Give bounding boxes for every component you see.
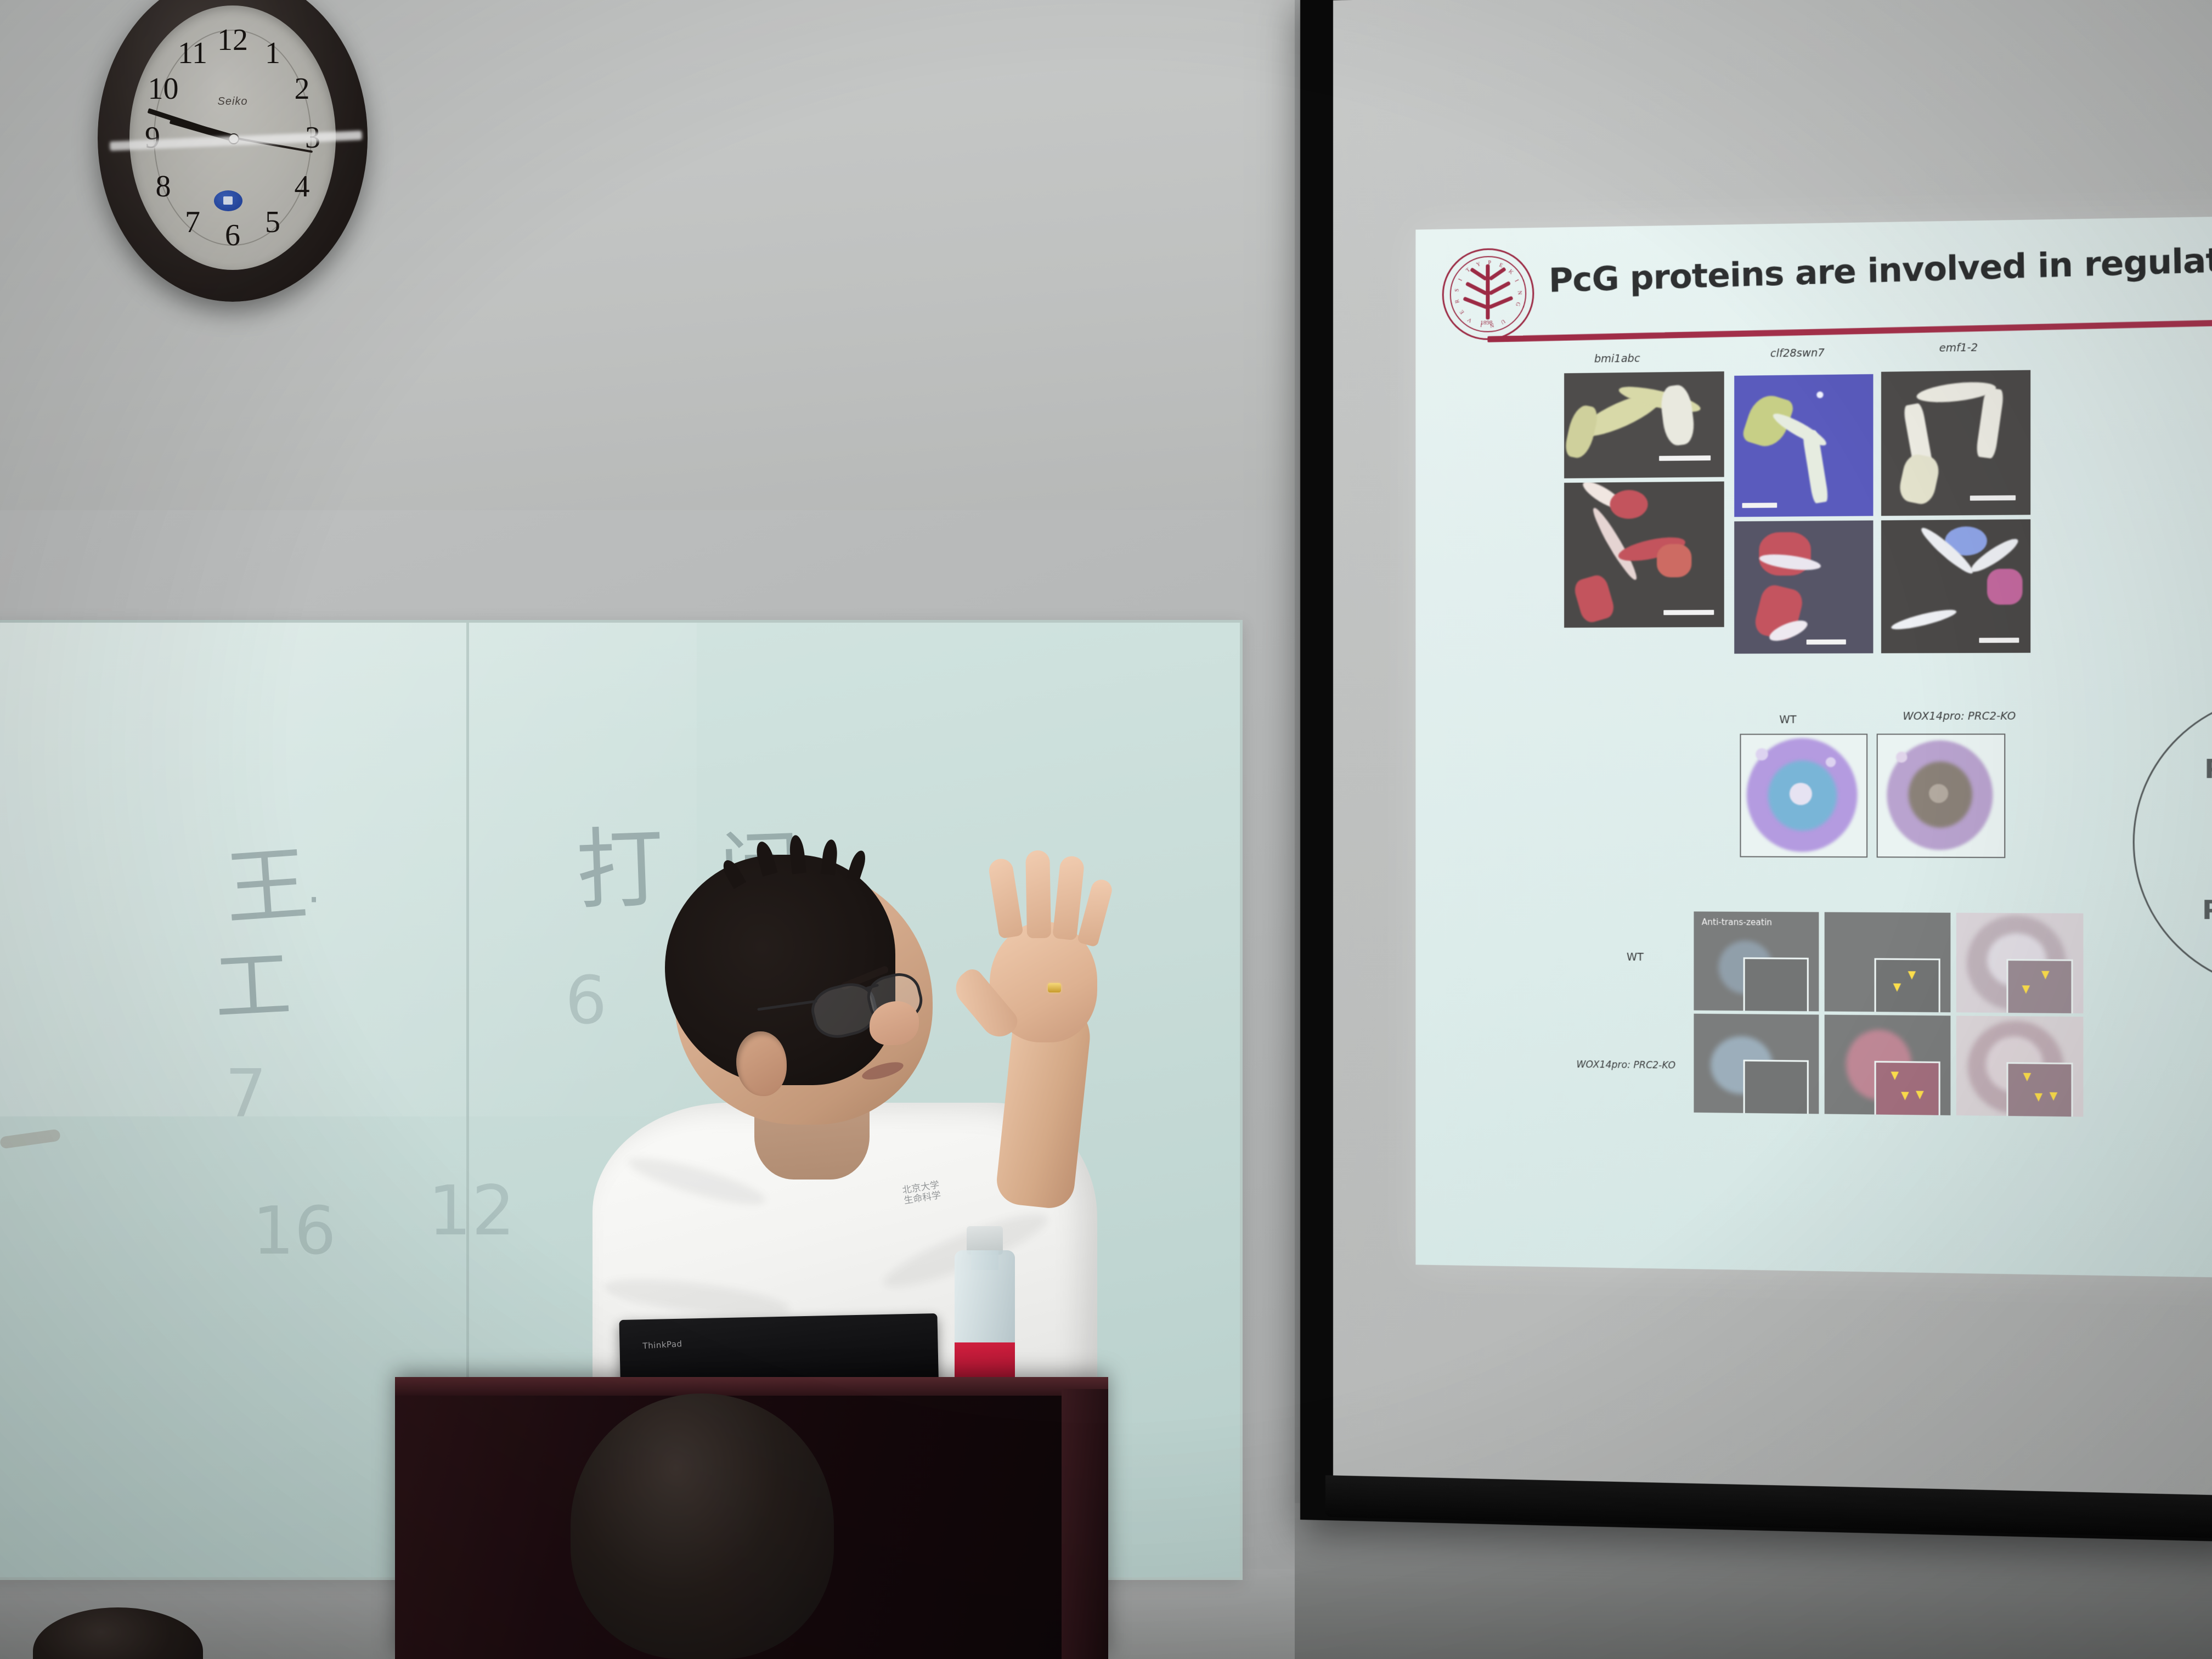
finger-pinky bbox=[1077, 877, 1114, 947]
bottom-figure-group: WT WOX14pro: PRC2-KO Anti-trans-zeatin bbox=[1415, 215, 2212, 230]
panel-label-clf28swn7: clf28swn7 bbox=[1770, 347, 1825, 360]
clock-numeral: 6 bbox=[225, 218, 240, 253]
panel-label-bmi1abc: bmi1abc bbox=[1594, 352, 1640, 365]
micrograph-clf28swn7-brightfield bbox=[1734, 374, 1873, 517]
seal-ring-letter: S bbox=[1454, 289, 1460, 292]
immu-cell-prc2ko-dapi bbox=[1694, 1014, 1819, 1114]
whiteboard-smudge bbox=[0, 1128, 61, 1149]
seal-ring-letter: E bbox=[1498, 262, 1504, 269]
immu-cell-wt-zeatin bbox=[1825, 912, 1951, 1013]
clock-numeral: 2 bbox=[294, 71, 309, 106]
immu-inset bbox=[2006, 1062, 2073, 1117]
clock-numeral: 5 bbox=[265, 205, 280, 240]
immu-inset bbox=[1743, 957, 1809, 1011]
clock-numeral: 9 bbox=[145, 120, 160, 155]
audience-head bbox=[571, 1393, 834, 1659]
immu-inset bbox=[2006, 959, 2073, 1013]
laptop-brand-label: ThinkPad bbox=[642, 1339, 682, 1351]
whiteboard-ghost-mark: 16 bbox=[252, 1193, 336, 1269]
finger-middle bbox=[1025, 850, 1051, 939]
gold-ring bbox=[1048, 983, 1061, 992]
seal-ring-letter: K bbox=[1507, 268, 1514, 275]
prc-cycle-diagram: PRC1 PRC2 bbox=[1415, 215, 2212, 230]
immu-inset bbox=[1875, 958, 1940, 1012]
seal-ring-letter: R bbox=[1454, 298, 1461, 304]
seal-ring-letter: I bbox=[1457, 278, 1463, 282]
presenter-head bbox=[675, 867, 933, 1152]
slide-title: PcG proteins are involved in regulati bbox=[1548, 240, 2212, 300]
seal-ring-letter: V bbox=[1466, 316, 1473, 323]
clock-numeral: 4 bbox=[294, 169, 309, 204]
hair-spike bbox=[847, 849, 868, 882]
seal-ring-letter: Y bbox=[1476, 261, 1482, 268]
presenter-ear bbox=[736, 1031, 787, 1096]
peking-university-seal-icon: PEKING UNIVERSITY1898 bbox=[1442, 247, 1534, 340]
seal-ring-letter: P bbox=[1488, 260, 1491, 266]
whiteboard-ghost-mark: · bbox=[307, 875, 320, 924]
immu-row-label-wt: WT bbox=[1627, 951, 1644, 963]
clock-numeral: 10 bbox=[148, 71, 179, 106]
immu-cell-prc2ko-merge bbox=[1956, 1015, 2084, 1116]
lectern-side-panel bbox=[1062, 1389, 1108, 1659]
presenter-raised-arm bbox=[966, 861, 1130, 1169]
title-underline-rule bbox=[1487, 317, 2212, 342]
seal-ring-letter: I bbox=[1514, 279, 1520, 283]
clock-numeral: 1 bbox=[265, 36, 280, 71]
seal-ring-letter: E bbox=[1459, 309, 1466, 315]
seal-ring-text: PEKING UNIVERSITY1898 bbox=[1444, 249, 1533, 338]
lectern-top-edge bbox=[395, 1377, 1108, 1396]
cross-section-prc2ko bbox=[1877, 733, 2006, 858]
middle-figure-group: WT WOX14pro: PRC2-KO bbox=[1415, 215, 2212, 230]
micrograph-clf28swn7-fluorescence bbox=[1734, 521, 1873, 654]
seal-ring-letter: T bbox=[1465, 267, 1471, 273]
presentation-slide: PEKING UNIVERSITY1898 PcG proteins are i… bbox=[1415, 215, 2212, 1279]
whiteboard-ghost-mark: 王 bbox=[221, 817, 312, 942]
prc-cycle-ring bbox=[2133, 693, 2212, 992]
whiteboard-ghost-mark: 工 bbox=[211, 922, 294, 1037]
immu-inset bbox=[1875, 1061, 1940, 1115]
clock-brand-label: Seiko bbox=[217, 95, 247, 108]
seal-ring-letter: U bbox=[1499, 318, 1506, 325]
shirt-fold bbox=[602, 1272, 791, 1323]
whiteboard-ghost-mark: 12 bbox=[428, 1171, 515, 1251]
immu-cell-wt-dapi: Anti-trans-zeatin bbox=[1694, 911, 1819, 1011]
projection-screen: PEKING UNIVERSITY1898 PcG proteins are i… bbox=[1300, 0, 2212, 1542]
prc1-label: PRC1 bbox=[2204, 754, 2212, 785]
xsec-label-wt: WT bbox=[1779, 714, 1796, 726]
clock-numeral: 11 bbox=[178, 36, 207, 71]
clock-numeral: 7 bbox=[185, 205, 200, 240]
panel-label-emf1-2: emf1-2 bbox=[1939, 342, 1978, 354]
micrograph-bmi1abc-brightfield bbox=[1564, 371, 1724, 478]
seal-ring-letter: N bbox=[1516, 291, 1523, 295]
immu-inset-annotation: Anti-trans-zeatin bbox=[1702, 917, 1772, 928]
micrograph-emf1-2-fluorescence bbox=[1881, 520, 2030, 653]
micrograph-bmi1abc-fluorescence bbox=[1564, 482, 1724, 628]
prc2-label: PRC2 bbox=[2202, 895, 2212, 926]
cross-section-wt bbox=[1740, 733, 1867, 857]
clock-numeral: 8 bbox=[156, 169, 171, 204]
projection-screen-surface: PEKING UNIVERSITY1898 PcG proteins are i… bbox=[1333, 0, 2212, 1497]
lecture-hall-photo: Seiko 121234567891011 王 · 工 打 问 6 7 16 1… bbox=[0, 0, 2212, 1659]
shirt-fold bbox=[625, 1149, 769, 1213]
immu-cell-prc2ko-zeatin bbox=[1825, 1015, 1951, 1115]
immu-inset bbox=[1743, 1060, 1809, 1114]
seal-year: 1898 bbox=[1480, 319, 1492, 326]
finger-index bbox=[988, 857, 1024, 939]
micrograph-emf1-2-brightfield bbox=[1881, 370, 2030, 516]
clock-numeral: 12 bbox=[217, 22, 248, 58]
clock-hub bbox=[228, 133, 239, 144]
xsec-label-prc2ko: WOX14pro: PRC2-KO bbox=[1903, 710, 2016, 723]
wall-clock: Seiko 121234567891011 bbox=[98, 0, 368, 302]
immu-cell-wt-merge bbox=[1956, 913, 2084, 1013]
top-figure-group: bmi1abc clf28swn7 emf1-2 bbox=[1415, 215, 2212, 230]
immu-row-label-prc2ko-line1: WOX14pro: PRC2-KO bbox=[1576, 1059, 1675, 1071]
seal-ring-letter: G bbox=[1514, 302, 1521, 307]
whiteboard-ghost-mark: 7 bbox=[225, 1056, 267, 1132]
clock-face: Seiko 121234567891011 bbox=[129, 5, 336, 270]
